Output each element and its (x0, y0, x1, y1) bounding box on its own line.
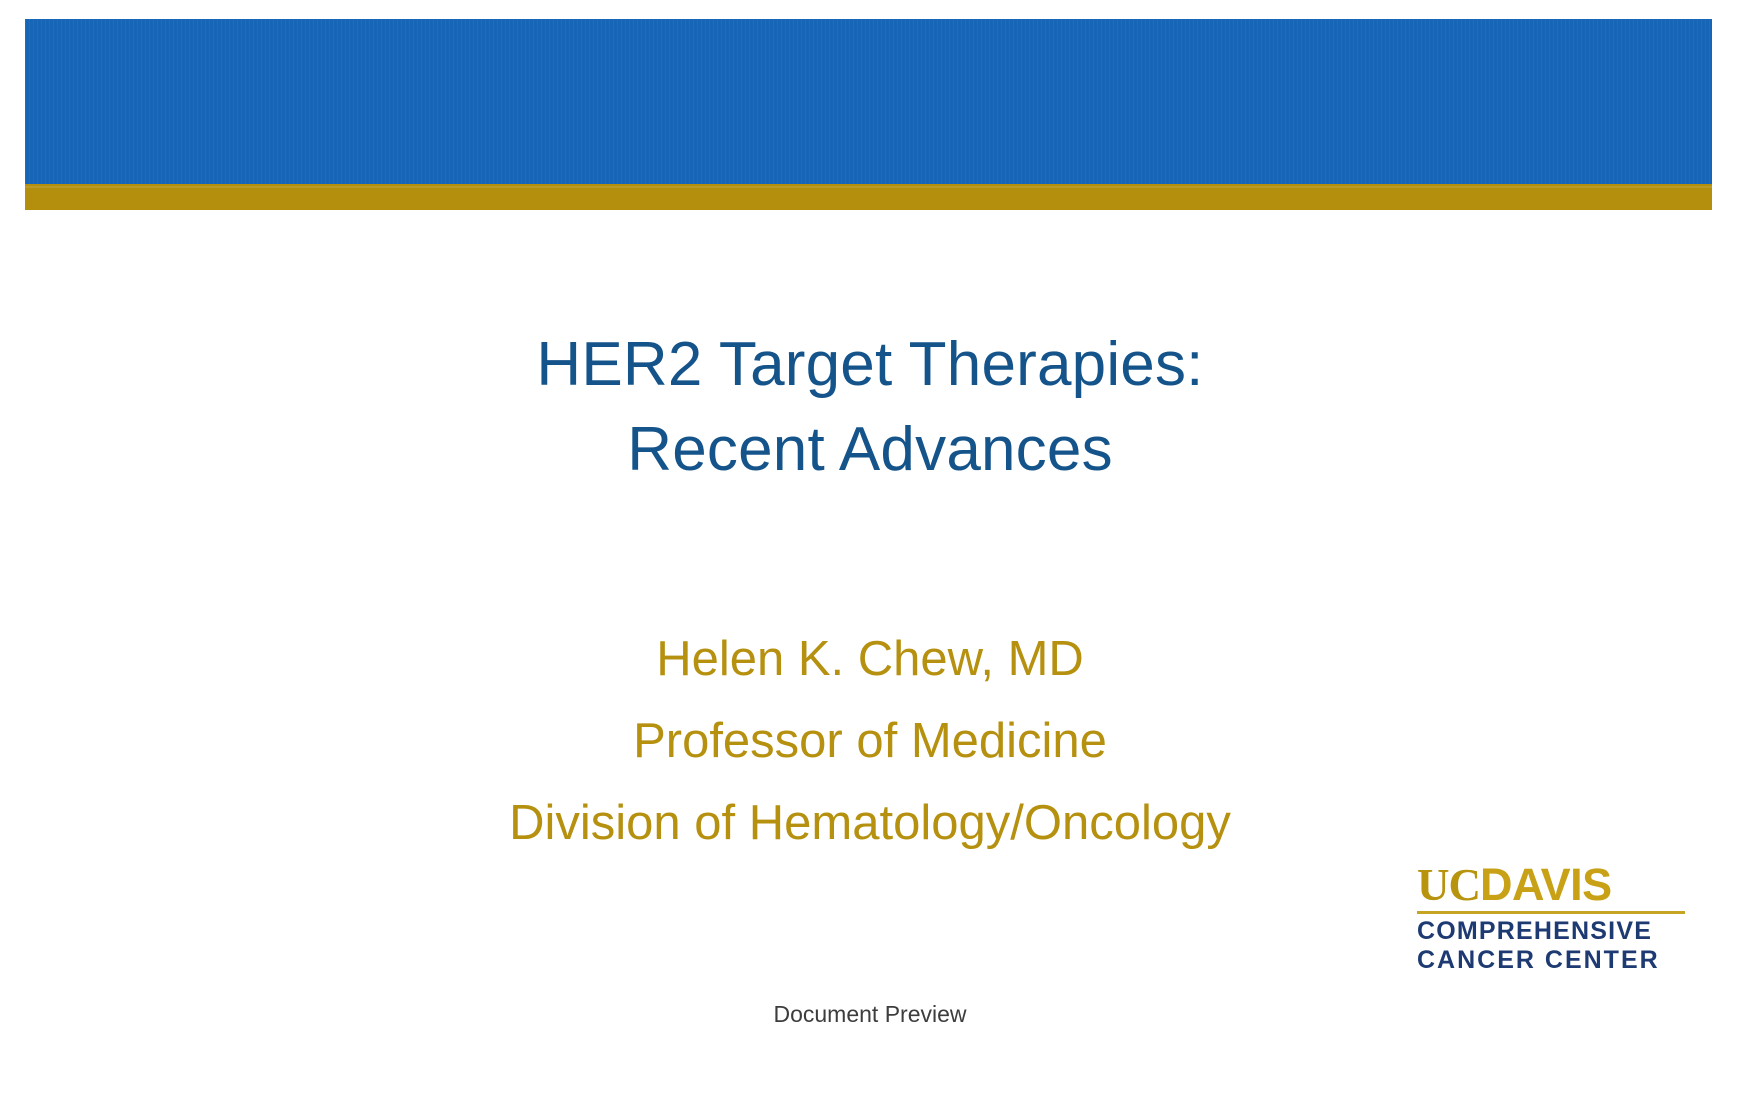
slide-author-block: Helen K. Chew, MD Professor of Medicine … (0, 618, 1740, 864)
uc-davis-logo-line-2: CANCER CENTER (1415, 946, 1693, 975)
uc-davis-davis-text: DAVIS (1480, 859, 1612, 910)
slide-title-line-1: HER2 Target Therapies: (0, 322, 1740, 407)
uc-davis-logo-divider (1417, 911, 1685, 914)
author-title: Professor of Medicine (0, 700, 1740, 782)
slide-canvas: HER2 Target Therapies: Recent Advances H… (0, 0, 1740, 1114)
uc-davis-wordmark: UCDAVIS (1415, 862, 1693, 908)
slide-title: HER2 Target Therapies: Recent Advances (0, 322, 1740, 492)
uc-davis-logo-line-1: COMPREHENSIVE (1415, 917, 1693, 946)
document-preview-caption: Document Preview (0, 1000, 1740, 1028)
author-division: Division of Hematology/Oncology (0, 782, 1740, 864)
uc-davis-logo: UCDAVIS COMPREHENSIVE CANCER CENTER (1415, 862, 1693, 975)
slide-title-line-2: Recent Advances (0, 407, 1740, 492)
author-name: Helen K. Chew, MD (0, 618, 1740, 700)
uc-davis-uc-text: UC (1417, 860, 1480, 910)
header-gold-band-highlight (25, 186, 1712, 188)
header-blue-band (25, 19, 1712, 184)
